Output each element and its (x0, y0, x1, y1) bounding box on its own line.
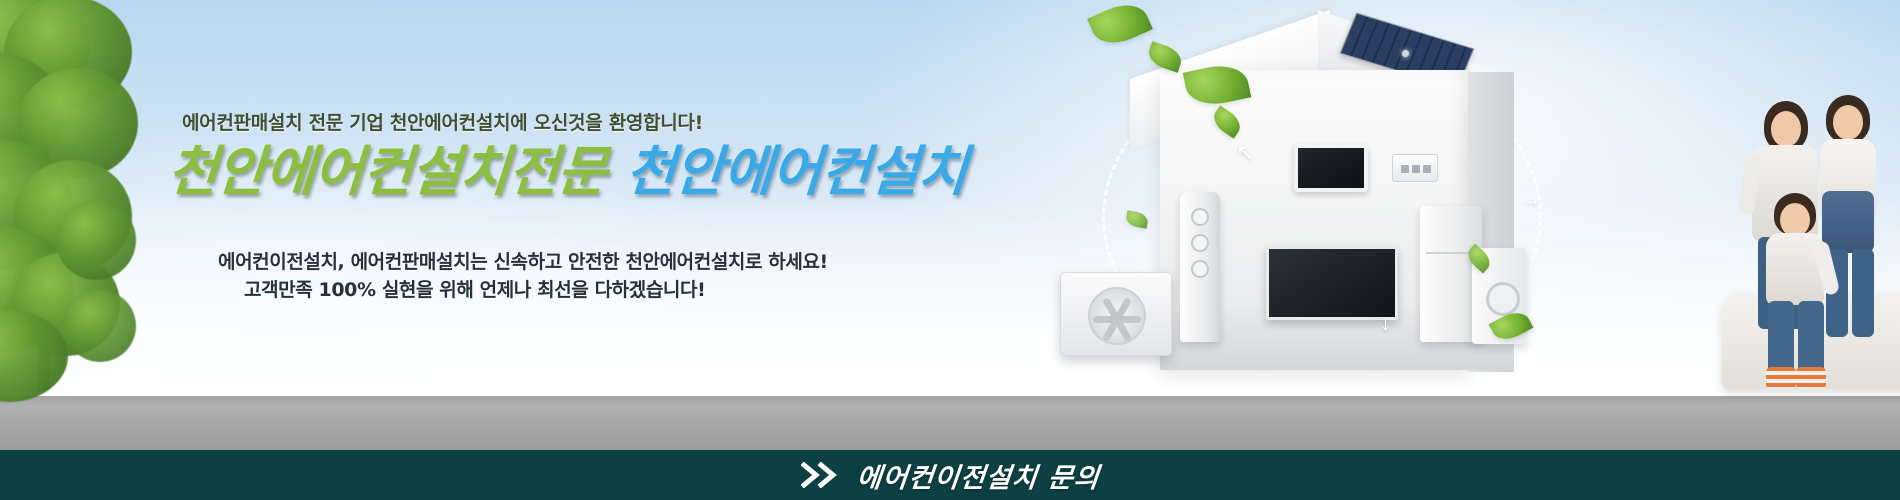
fan-icon (1088, 287, 1146, 345)
banner-body: 에어컨이전설치, 에어컨판매설치는 신속하고 안전한 천안에어컨설치로 하세요!… (218, 248, 828, 304)
headline-blue-text: 천안에어컨설치 (624, 142, 969, 202)
wall-control-panel-icon (1392, 154, 1438, 182)
stand-air-conditioner-icon (1180, 192, 1220, 342)
hero-banner: 에어컨판매설치 전문 기업 천안에어컨설치에 오신것을 환영합니다! 천안에어컨… (0, 0, 1900, 500)
arrow-up-left-icon: ↖ (1236, 140, 1254, 166)
banner-body-line-2: 고객만족 100% 실현을 위해 언제나 최선을 다하겠습니다! (218, 276, 828, 304)
television-icon (1266, 246, 1398, 320)
outdoor-unit-icon (1060, 272, 1172, 356)
family-photo (1740, 95, 1900, 395)
solar-highlight (1402, 50, 1409, 57)
double-chevron-right-icon (801, 462, 843, 488)
arrow-right-icon: → (1520, 186, 1542, 212)
wall-mounted-display-icon (1294, 144, 1368, 192)
headline-green-text: 천안에어컨설치전문 (166, 142, 608, 202)
banner-body-line-1: 에어컨이전설치, 에어컨판매설치는 신속하고 안전한 천안에어컨설치로 하세요! (218, 251, 828, 273)
arrow-down-icon: ↓ (1380, 310, 1391, 336)
banner-headline: 천안에어컨설치전문천안에어컨설치 (168, 142, 967, 202)
cta-label[interactable]: 에어컨이전설치 문의 (854, 456, 1101, 495)
banner-tagline: 에어컨판매설치 전문 기업 천안에어컨설치에 오신것을 환영합니다! (182, 108, 703, 135)
banner-copy: 에어컨판매설치 전문 기업 천안에어컨설치에 오신것을 환영합니다! 천안에어컨… (0, 0, 1000, 400)
cta-bar[interactable]: 에어컨이전설치 문의 (0, 450, 1900, 500)
